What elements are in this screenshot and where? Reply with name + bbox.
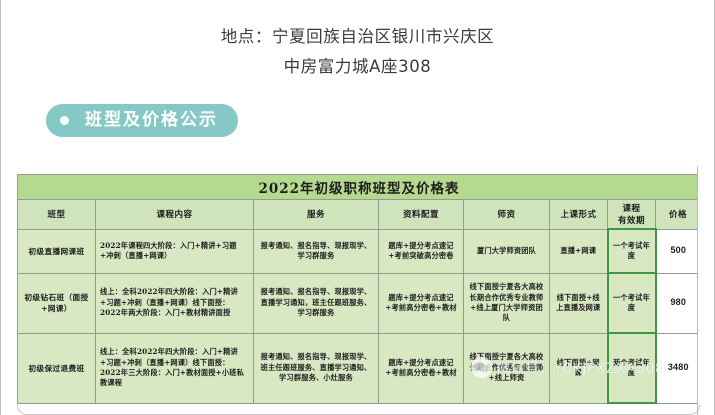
dot-icon	[60, 116, 69, 125]
cell-validity[interactable]: 一个考试年度	[608, 273, 656, 333]
cell-class-type[interactable]: 初级钻石班（面授+网课）	[18, 273, 96, 333]
price-table-container: 2022年初级职称班型及价格表 班型 课程内容 服务 资料配置 师资 上课形式 …	[17, 166, 700, 415]
column-header-teachers[interactable]: 师资	[464, 199, 550, 229]
section-badge: 班型及价格公示	[46, 104, 238, 137]
sheet-bottom-rounded-edge	[17, 405, 700, 415]
column-header-validity-line1: 课程	[611, 202, 652, 214]
cell-content[interactable]: 线上：全科2022年四大阶段：入门+精讲+习题+冲刺（直播+网课）线下面授：20…	[96, 273, 254, 333]
column-header-validity-line2: 有效期	[611, 214, 652, 226]
cell-materials[interactable]: 题库+提分考点速记+考前突破高分密卷	[379, 229, 464, 273]
column-header-materials[interactable]: 资料配置	[379, 199, 464, 229]
page-root: 地点：宁夏回族自治区银川市兴庆区 中房富力城A座308 班型及价格公示	[0, 0, 715, 415]
column-header-format[interactable]: 上课形式	[550, 199, 608, 229]
cell-materials[interactable]: 题库+提分考点速记+考前高分密卷+教材	[379, 273, 464, 333]
table-title: 2022年初级职称班型及价格表	[18, 174, 701, 199]
sheet-top-gap	[18, 166, 701, 174]
section-badge-label: 班型及价格公示	[85, 112, 218, 129]
cell-teachers[interactable]: 线下面授宁夏各大高校长期合作优秀专业教师+线上厦门大学师资团队	[464, 273, 550, 333]
column-header-content[interactable]: 课程内容	[96, 199, 254, 229]
cell-teachers[interactable]: 线下面授宁夏各大高校长期合作优秀专业教师+线上师资	[464, 333, 550, 403]
cell-teachers[interactable]: 厦门大学师资团队	[464, 229, 550, 273]
cell-content[interactable]: 2022年课程四大阶段：入门+精讲+习题+冲刺（直播+网课）	[96, 229, 254, 273]
column-header-price[interactable]: 价格	[656, 199, 701, 229]
cell-materials[interactable]: 题库+提分考点速记+考前高分密卷+教材	[379, 333, 464, 403]
table-row[interactable]: 初级保过退费班 线上：全科2022年四大阶段：入门+精讲+习题+冲刺（直播+网课…	[18, 333, 701, 403]
cell-price[interactable]: 3480	[656, 333, 701, 403]
cell-price[interactable]: 980	[656, 273, 701, 333]
column-header-service[interactable]: 服务	[254, 199, 379, 229]
table-title-row: 2022年初级职称班型及价格表	[18, 174, 701, 199]
cell-validity[interactable]: 两个考试年度	[608, 333, 656, 403]
sheet-top-gap-cell	[18, 166, 701, 174]
column-header-validity[interactable]: 课程 有效期	[608, 199, 656, 229]
sheet-right-gutter	[697, 166, 713, 415]
table-row[interactable]: 初级直播网课班 2022年课程四大阶段：入门+精讲+习题+冲刺（直播+网课） 报…	[18, 229, 701, 273]
cell-service[interactable]: 报考通知、报名指导、现报现学、直播学习通知，班主任跟班服务、学习群服务	[254, 273, 379, 333]
table-header-row: 班型 课程内容 服务 资料配置 师资 上课形式 课程 有效期 价格	[18, 199, 701, 229]
address-line-2: 中房富力城A座308	[1, 52, 714, 82]
price-table: 2022年初级职称班型及价格表 班型 课程内容 服务 资料配置 师资 上课形式 …	[17, 166, 701, 404]
section-badge-row: 班型及价格公示	[1, 104, 714, 137]
cell-class-type[interactable]: 初级保过退费班	[18, 333, 96, 403]
cell-service[interactable]: 报考通知、报名指导、现报现学、班主任跟班服务、直播学习通知、学习群服务、小灶服务	[254, 333, 379, 403]
cell-content[interactable]: 线上：全科2022年四大阶段：入门+精讲+习题+冲刺（直播+网课）线下面授：20…	[96, 333, 254, 403]
cell-price[interactable]: 500	[656, 229, 701, 273]
cell-class-type[interactable]: 初级直播网课班	[18, 229, 96, 273]
cell-format[interactable]: 直播+网课	[550, 229, 608, 273]
cell-format[interactable]: 线下面授+线上直播及网课	[550, 273, 608, 333]
table-row[interactable]: 初级钻石班（面授+网课） 线上：全科2022年四大阶段：入门+精讲+习题+冲刺（…	[18, 273, 701, 333]
cell-format[interactable]: 线下面授+网课	[550, 333, 608, 403]
venue-address: 地点：宁夏回族自治区银川市兴庆区 中房富力城A座308	[1, 0, 714, 82]
cell-validity[interactable]: 一个考试年度	[608, 229, 656, 273]
cell-service[interactable]: 报考通知、报名指导、现报现学、学习群服务	[254, 229, 379, 273]
address-line-1: 地点：宁夏回族自治区银川市兴庆区	[1, 22, 714, 52]
column-header-class-type[interactable]: 班型	[18, 199, 96, 229]
